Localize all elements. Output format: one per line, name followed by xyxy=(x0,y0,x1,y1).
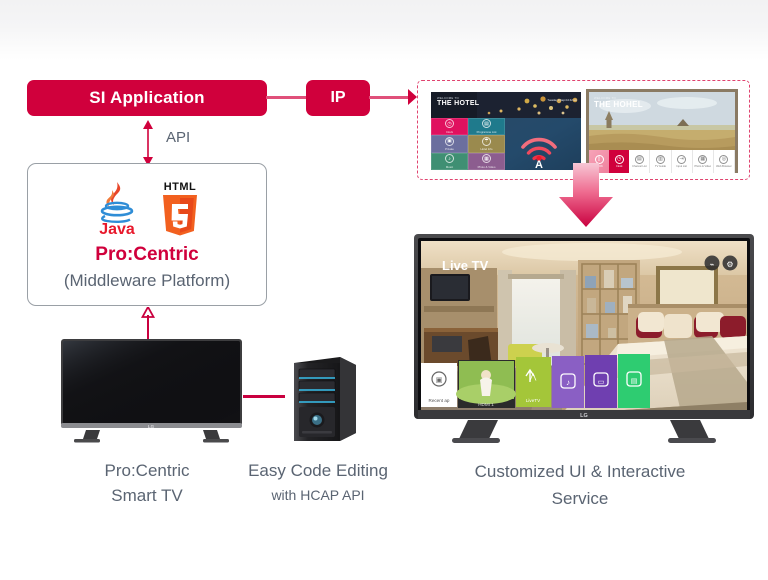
svg-text:⋀: ⋀ xyxy=(529,372,537,381)
diagram-canvas: SI Application IP API Java HT xyxy=(0,0,768,580)
server-tower-image xyxy=(280,355,358,443)
wifi-signal-icon: A xyxy=(519,134,559,168)
launcher-label-recent: Recent ap xyxy=(429,398,450,403)
tile-photo-video[interactable]: ▦ Photo & Video xyxy=(468,153,505,170)
svg-text:♪: ♪ xyxy=(566,378,570,387)
photo-icon: ▦ xyxy=(698,155,707,164)
launcher-label-livetv: LiveTV xyxy=(526,398,541,403)
camera-icon: ▣ xyxy=(445,137,454,146)
si-application-node[interactable]: SI Application xyxy=(27,80,267,116)
api-double-arrow-icon xyxy=(140,120,156,166)
hotel-room-photo: Live TV ⌁ ⚙ ▣ Recent ap HDMI 1 ⋀ xyxy=(421,241,747,415)
ip-label: IP xyxy=(330,89,345,107)
svg-text:HTML: HTML xyxy=(164,181,197,193)
mini-tv-right-welcome: WELCOME TO THE HOHEL xyxy=(594,96,643,109)
procentric-subtitle: (Middleware Platform) xyxy=(28,271,266,291)
ip-node[interactable]: IP xyxy=(306,80,370,116)
music-icon: ♪ xyxy=(445,154,454,163)
clock-icon: ◷ xyxy=(445,119,454,128)
tile-programme-list[interactable]: ▤ Programme List xyxy=(468,118,505,135)
svg-text:▭: ▭ xyxy=(598,379,605,386)
procentric-smart-tv-image: LG xyxy=(60,338,243,443)
arrowhead-right-icon xyxy=(408,89,417,105)
tile-music[interactable]: ♪ Music xyxy=(431,153,468,170)
tile-private[interactable]: ▣ Private xyxy=(431,135,468,152)
clock-icon: ◷ xyxy=(615,155,624,164)
info-icon: ☂ xyxy=(482,137,491,146)
menu-item-photo-video[interactable]: ▦ Photo & Video xyxy=(693,150,714,173)
list-icon: ▤ xyxy=(635,155,644,164)
tile-clock[interactable]: ◷ Clock xyxy=(431,118,468,135)
caption-easy-code-editing: Easy Code Editing with HCAP API xyxy=(228,458,408,508)
mini-tv-right-screen: WELCOME TO THE HOHEL ▯ BOOK ◷ Clock ▤ Ch… xyxy=(586,89,738,173)
si-application-label: SI Application xyxy=(89,88,205,108)
live-tv-overlay-label: Live TV xyxy=(442,258,489,273)
photo-icon: ▦ xyxy=(482,154,491,163)
mini-tv-right-body: WELCOME TO THE HOHEL ▯ BOOK ◷ Clock ▤ Ch… xyxy=(589,92,735,173)
caption-procentric-smart-tv: Pro:Centric Smart TV xyxy=(66,458,228,508)
platform-logos: Java HTML xyxy=(28,174,266,236)
svg-text:Java: Java xyxy=(99,221,135,236)
mini-tv-left-welcome: WELCOME TO THE HOTEL xyxy=(437,96,479,107)
svg-text:⌁: ⌁ xyxy=(710,260,715,269)
mini-tv-left-tile-grid: ◷ Clock ▤ Programme List ▣ Private ☂ Hot… xyxy=(431,118,505,170)
mini-tv-left-screen: WELCOME TO THE HOTEL Tuesday 3 Sept 10:4… xyxy=(431,92,581,170)
connector-ip-to-screens xyxy=(369,96,411,99)
globe-icon: ◎ xyxy=(719,155,728,164)
launcher-label-hdmi: HDMI 1 xyxy=(478,402,494,407)
svg-text:LG: LG xyxy=(148,424,155,429)
html5-logo-icon: HTML xyxy=(157,178,203,236)
menu-item-web-browser[interactable]: ◎ Web Browser xyxy=(714,150,735,173)
connector-si-to-ip xyxy=(266,96,308,99)
guide-icon: ▥ xyxy=(656,155,665,164)
connector-tv-to-server xyxy=(243,395,285,398)
svg-text:▤: ▤ xyxy=(631,378,638,385)
menu-item-input-list[interactable]: ⇥ Input List xyxy=(672,150,693,173)
menu-item-tv-guide[interactable]: ▥ TV Guide xyxy=(650,150,671,173)
procentric-title: Pro:Centric xyxy=(28,244,266,266)
mini-tv-left-clock: Tuesday 3 Sept 10:42 am xyxy=(547,99,577,102)
lg-brand-label: LG xyxy=(580,413,588,419)
down-arrow-icon xyxy=(557,163,615,227)
tile-hotel-info[interactable]: ☂ Hotel Info xyxy=(468,135,505,152)
svg-text:⚙: ⚙ xyxy=(726,260,733,269)
caption-customized-ui: Customized UI & Interactive Service xyxy=(440,458,720,512)
procentric-middleware-node[interactable]: Java HTML Pro:Centric (Middleware Platfo… xyxy=(27,163,267,306)
input-icon: ⇥ xyxy=(677,155,686,164)
svg-text:▣: ▣ xyxy=(436,377,443,384)
wifi-letter: A xyxy=(535,159,543,168)
customized-ui-tv-image: Live TV ⌁ ⚙ ▣ Recent ap HDMI 1 ⋀ xyxy=(412,232,756,447)
top-gradient-band xyxy=(0,0,768,60)
api-label: API xyxy=(166,129,190,146)
java-logo-icon: Java xyxy=(91,178,143,236)
tv-icon: ▤ xyxy=(482,119,491,128)
menu-item-channel-list[interactable]: ▤ Channel List xyxy=(629,150,650,173)
